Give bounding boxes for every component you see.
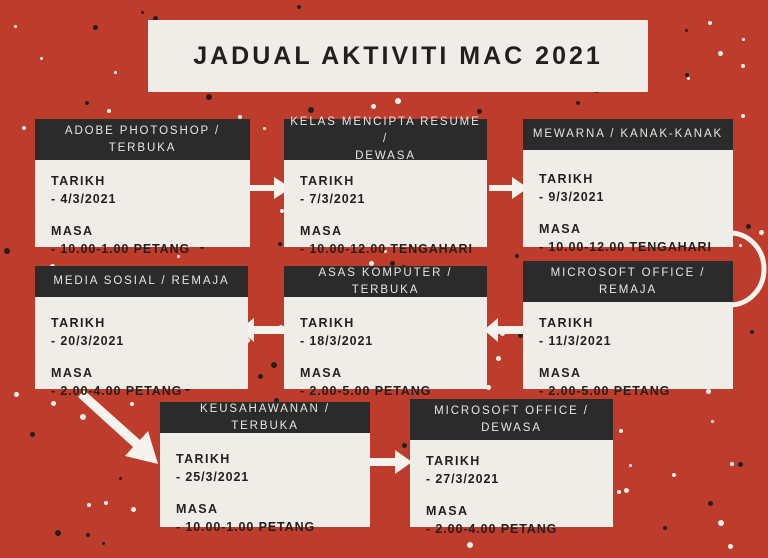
time-value: - 2.00-5.00 PETANG — [300, 382, 487, 400]
card-header: MICROSOFT OFFICE / REMAJA — [523, 261, 733, 302]
time-label: MASA — [51, 223, 250, 240]
confetti-dot — [741, 114, 745, 118]
card-title-line1: KEUSAHAWANAN / TERBUKA — [166, 401, 364, 435]
time-label: MASA — [300, 365, 487, 382]
confetti-dot — [708, 21, 712, 25]
date-label: TARIKH — [539, 171, 733, 188]
activity-card-microsoft-office-remaja[interactable]: MICROSOFT OFFICE / REMAJA TARIKH - 11/3/… — [523, 261, 733, 389]
date-value: - 25/3/2021 — [176, 468, 370, 486]
confetti-dot — [750, 330, 754, 334]
date-label: TARIKH — [300, 173, 487, 190]
card-header: ADOBE PHOTOSHOP / TERBUKA — [35, 119, 250, 160]
card-title-line2: TERBUKA — [65, 140, 220, 157]
confetti-dot — [55, 530, 61, 536]
title-banner: JADUAL AKTIVITI MAC 2021 — [148, 20, 648, 92]
card-body: TARIKH - 25/3/2021 MASA - 10.00-1.00 PET… — [160, 433, 370, 546]
confetti-dot — [4, 248, 10, 254]
card-body: TARIKH - 9/3/2021 MASA - 10.00-12.00 TEN… — [523, 150, 733, 266]
confetti-dot — [114, 71, 117, 74]
confetti-dot — [711, 420, 714, 423]
confetti-dot — [371, 104, 376, 109]
confetti-dot — [22, 126, 26, 130]
confetti-dot — [629, 464, 632, 467]
card-title-line1: MEWARNA / KANAK-KANAK — [533, 126, 723, 143]
confetti-dot — [278, 242, 282, 246]
spacer — [426, 488, 613, 503]
confetti-dot — [131, 507, 136, 512]
activity-card-media-sosial[interactable]: MEDIA SOSIAL / REMAJA TARIKH - 20/3/2021… — [35, 266, 248, 389]
card-title-line1: MICROSOFT OFFICE / — [551, 265, 706, 282]
confetti-dot — [685, 73, 689, 77]
confetti-dot — [263, 127, 266, 130]
time-label: MASA — [51, 365, 248, 382]
date-value: - 4/3/2021 — [51, 190, 250, 208]
card-header: ASAS KOMPUTER / TERBUKA — [284, 266, 487, 297]
confetti-dot — [271, 362, 277, 368]
confetti-dot — [685, 29, 688, 32]
date-label: TARIKH — [176, 451, 370, 468]
confetti-dot — [119, 477, 122, 480]
confetti-dot — [395, 98, 401, 104]
confetti-dot — [672, 473, 676, 477]
card-header: KELAS MENCIPTA RESUME / DEWASA — [284, 119, 487, 160]
time-value: - 10.00-12.00 TENGAHARI — [539, 238, 733, 256]
arrow-right-card7-to-card8 — [367, 443, 413, 481]
confetti-dot — [687, 77, 690, 80]
confetti-dot — [624, 488, 629, 493]
card-body: TARIKH - 18/3/2021 MASA - 2.00-5.00 PETA… — [284, 297, 487, 410]
spacer — [539, 350, 733, 365]
activity-card-microsoft-office-dewasa[interactable]: MICROSOFT OFFICE / DEWASA TARIKH - 27/3/… — [410, 399, 613, 527]
date-value: - 18/3/2021 — [300, 332, 487, 350]
card-header: MEWARNA / KANAK-KANAK — [523, 119, 733, 150]
confetti-dot — [93, 25, 98, 30]
confetti-dot — [85, 101, 89, 105]
date-value: - 27/3/2021 — [426, 470, 613, 488]
confetti-dot — [86, 533, 90, 537]
confetti-dot — [515, 254, 519, 258]
confetti-dot — [477, 109, 482, 114]
card-title-line2: DEWASA — [434, 420, 589, 437]
time-value: - 10.00-1.00 PETANG — [176, 518, 370, 536]
confetti-dot — [14, 25, 17, 28]
card-title-line1: MICROSOFT OFFICE / — [434, 403, 589, 420]
activity-card-asas-komputer[interactable]: ASAS KOMPUTER / TERBUKA TARIKH - 18/3/20… — [284, 266, 487, 389]
confetti-dot — [297, 5, 301, 9]
date-label: TARIKH — [300, 315, 487, 332]
spacer — [300, 350, 487, 365]
confetti-dot — [738, 462, 743, 467]
activity-card-adobe-photoshop[interactable]: ADOBE PHOTOSHOP / TERBUKA TARIKH - 4/3/2… — [35, 119, 250, 247]
time-label: MASA — [300, 223, 487, 240]
confetti-dot — [40, 57, 43, 60]
spacer — [300, 208, 487, 223]
confetti-dot — [718, 520, 724, 526]
card-body: TARIKH - 20/3/2021 MASA - 2.00-4.00 PETA… — [35, 297, 248, 410]
confetti-dot — [258, 374, 263, 379]
confetti-dot — [576, 101, 580, 105]
spacer — [51, 350, 248, 365]
time-value: - 2.00-4.00 PETANG — [426, 520, 613, 538]
confetti-dot — [14, 392, 19, 397]
date-label: TARIKH — [51, 315, 248, 332]
date-value: - 20/3/2021 — [51, 332, 248, 350]
card-header: MEDIA SOSIAL / REMAJA — [35, 266, 248, 297]
activity-card-keusahawanan[interactable]: KEUSAHAWANAN / TERBUKA TARIKH - 25/3/202… — [160, 402, 370, 527]
time-value: - 10.00-12.00 TENGAHARI — [300, 240, 487, 258]
confetti-dot — [708, 501, 713, 506]
card-body: TARIKH - 4/3/2021 MASA - 10.00-1.00 PETA… — [35, 160, 250, 268]
confetti-dot — [107, 109, 111, 113]
activity-card-mewarna[interactable]: MEWARNA / KANAK-KANAK TARIKH - 9/3/2021 … — [523, 119, 733, 247]
confetti-dot — [617, 490, 621, 494]
confetti-dot — [663, 526, 667, 530]
card-title-line1: ADOBE PHOTOSHOP / — [65, 123, 220, 140]
spacer — [51, 208, 250, 223]
time-label: MASA — [426, 503, 613, 520]
confetti-dot — [718, 51, 723, 56]
confetti-dot — [730, 462, 734, 466]
confetti-dot — [102, 542, 105, 545]
confetti-dot — [141, 11, 144, 14]
confetti-dot — [206, 94, 212, 100]
date-value: - 11/3/2021 — [539, 332, 733, 350]
confetti-dot — [496, 356, 501, 361]
date-label: TARIKH — [51, 173, 250, 190]
time-label: MASA — [176, 501, 370, 518]
time-value: - 2.00-5.00 PETANG — [539, 382, 733, 400]
card-title-line1: ASAS KOMPUTER / TERBUKA — [290, 265, 481, 299]
confetti-dot — [30, 432, 35, 437]
time-value: - 10.00-1.00 PETANG — [51, 240, 250, 258]
time-label: MASA — [539, 365, 733, 382]
spacer — [176, 486, 370, 501]
time-value: - 2.00-4.00 PETANG — [51, 382, 248, 400]
confetti-dot — [308, 107, 314, 113]
date-value: - 9/3/2021 — [539, 188, 733, 206]
confetti-dot — [104, 501, 108, 505]
card-title-line2: REMAJA — [551, 282, 706, 299]
date-label: TARIKH — [426, 453, 613, 470]
time-label: MASA — [539, 221, 733, 238]
page-title: JADUAL AKTIVITI MAC 2021 — [193, 42, 603, 71]
card-title-line1: KELAS MENCIPTA RESUME / — [290, 114, 481, 148]
card-header: KEUSAHAWANAN / TERBUKA — [160, 402, 370, 433]
card-body: TARIKH - 7/3/2021 MASA - 10.00-12.00 TEN… — [284, 160, 487, 268]
confetti-dot — [728, 544, 733, 549]
card-body: TARIKH - 27/3/2021 MASA - 2.00-4.00 PETA… — [410, 440, 613, 548]
confetti-dot — [87, 503, 91, 507]
poster-canvas: JADUAL AKTIVITI MAC 2021 ADOBE PHOTOSHOP… — [0, 0, 768, 558]
confetti-dot — [741, 64, 745, 68]
activity-card-kelas-mencipta-resume[interactable]: KELAS MENCIPTA RESUME / DEWASA TARIKH - … — [284, 119, 487, 247]
card-title-line1: MEDIA SOSIAL / REMAJA — [53, 273, 229, 290]
card-header: MICROSOFT OFFICE / DEWASA — [410, 399, 613, 440]
confetti-dot — [619, 429, 623, 433]
card-body: TARIKH - 11/3/2021 MASA - 2.00-5.00 PETA… — [523, 302, 733, 410]
date-label: TARIKH — [539, 315, 733, 332]
arrow-left-card6-to-card5 — [484, 311, 526, 349]
date-value: - 7/3/2021 — [300, 190, 487, 208]
spacer — [539, 206, 733, 221]
confetti-dot — [742, 38, 745, 41]
